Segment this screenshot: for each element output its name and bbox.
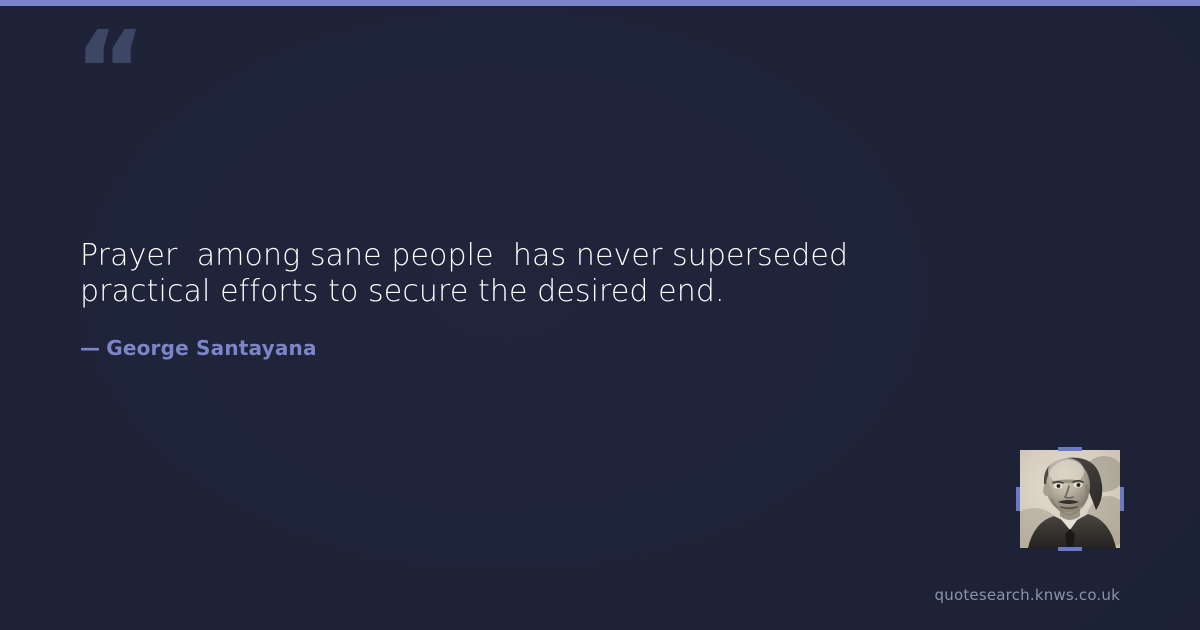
top-accent-bar [0, 0, 1200, 6]
portrait-accent-top [1058, 447, 1082, 451]
open-quote-icon: “ [78, 34, 138, 86]
attribution-dash: — [80, 336, 100, 360]
open-quote-glyph: “ [74, 16, 138, 126]
quote-block: Prayer among sane people has never super… [80, 238, 960, 360]
quote-card: “ Prayer among sane people has never sup… [0, 0, 1200, 630]
source-url: quotesearch.knws.co.uk [935, 586, 1120, 604]
portrait-accent-right [1120, 487, 1124, 511]
attribution-author: George Santayana [106, 336, 316, 360]
portrait-accent-left [1016, 487, 1020, 511]
author-portrait-image [1020, 450, 1120, 548]
quote-attribution: —George Santayana [80, 310, 960, 360]
portrait-accent-bottom [1058, 547, 1082, 551]
quote-text: Prayer among sane people has never super… [80, 238, 960, 310]
author-portrait [1020, 450, 1120, 548]
